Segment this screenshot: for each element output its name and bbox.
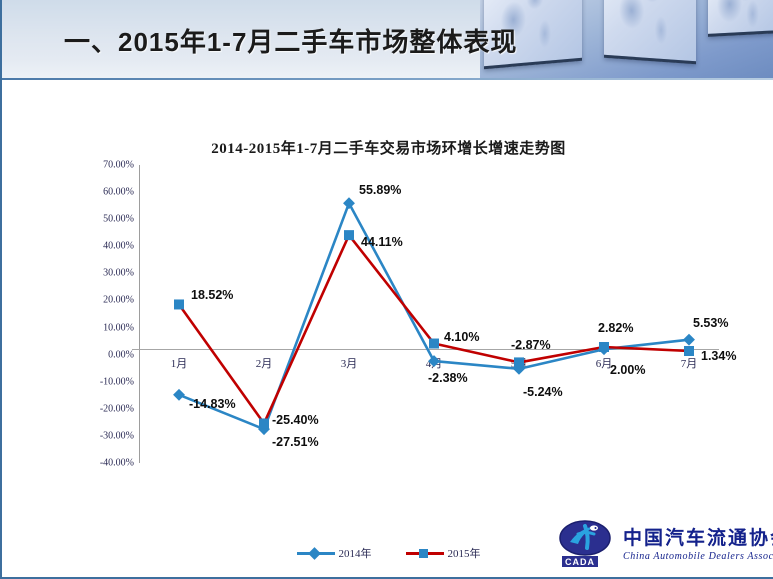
header-decoration-graphic [480,0,773,79]
legend-item-2015[interactable]: 2015年 [406,545,481,561]
y-axis-tick: -30.00% [72,430,134,441]
series-line-2014年 [179,203,689,429]
data-point-marker [259,418,269,428]
y-axis-tick: 50.00% [72,214,134,225]
chart-container: 2014-2015年1-7月二手车交易市场环增长增速走势图 70.00%60.0… [2,79,773,499]
data-point-marker [344,230,354,240]
data-point-marker [428,355,440,367]
y-axis-labels: 70.00%60.00%50.00%40.00%30.00%20.00%10.0… [68,165,134,463]
logo-english-name: China Automobile Dealers Association [623,551,773,562]
data-label: -5.24% [523,385,563,399]
y-axis-tick: -20.00% [72,403,134,414]
svg-text:CADA: CADA [565,557,595,567]
legend-swatch-2015 [406,547,444,559]
chart-plot-lines [139,165,719,463]
y-axis-tick: 70.00% [72,160,134,171]
legend-label-2015: 2015年 [448,545,481,561]
data-point-marker [683,334,695,346]
data-label: -2.38% [428,371,468,385]
data-label: 2.00% [610,363,645,377]
logo-chinese-name: 中国汽车流通协会 [623,523,773,550]
cube-icon [604,0,696,64]
legend-label-2014: 2014年 [339,545,372,561]
data-point-marker [429,339,439,349]
y-axis-tick: 40.00% [72,241,134,252]
data-label: 55.89% [359,183,401,197]
cada-logo: CADA 中国汽车流通协会 China Automobile Dealers A… [558,512,770,572]
data-point-marker [343,197,355,209]
data-label: -25.40% [272,413,319,427]
slide: 一、2015年1-7月二手车市场整体表现 2014-2015年1-7月二手车交易… [0,0,773,579]
data-label: 44.11% [361,235,403,249]
y-axis-tick: 10.00% [72,322,134,333]
data-point-marker [514,357,524,367]
cada-logo-icon: CADA [558,516,616,568]
data-point-marker [173,389,185,401]
data-label: 18.52% [191,288,233,302]
data-point-marker [599,342,609,352]
legend-item-2014[interactable]: 2014年 [297,545,372,561]
data-point-marker [684,346,694,356]
y-axis-tick: 0.00% [72,349,134,360]
slide-title: 一、2015年1-7月二手车市场整体表现 [64,22,517,59]
data-point-marker [174,299,184,309]
data-label: 5.53% [693,316,728,330]
chart-title: 2014-2015年1-7月二手车交易市场环增长增速走势图 [2,137,773,158]
y-axis-tick: -10.00% [72,376,134,387]
legend-swatch-2014 [297,547,335,559]
data-label: -27.51% [272,435,319,449]
data-label: -14.83% [189,397,236,411]
cube-icon [708,0,773,37]
y-axis-tick: -40.00% [72,458,134,469]
data-label: 4.10% [444,330,479,344]
y-axis-tick: 60.00% [72,187,134,198]
data-label: -2.87% [511,338,551,352]
data-label: 2.82% [598,321,633,335]
y-axis-tick: 20.00% [72,295,134,306]
data-label: 1.34% [701,349,736,363]
y-axis-tick: 30.00% [72,268,134,279]
